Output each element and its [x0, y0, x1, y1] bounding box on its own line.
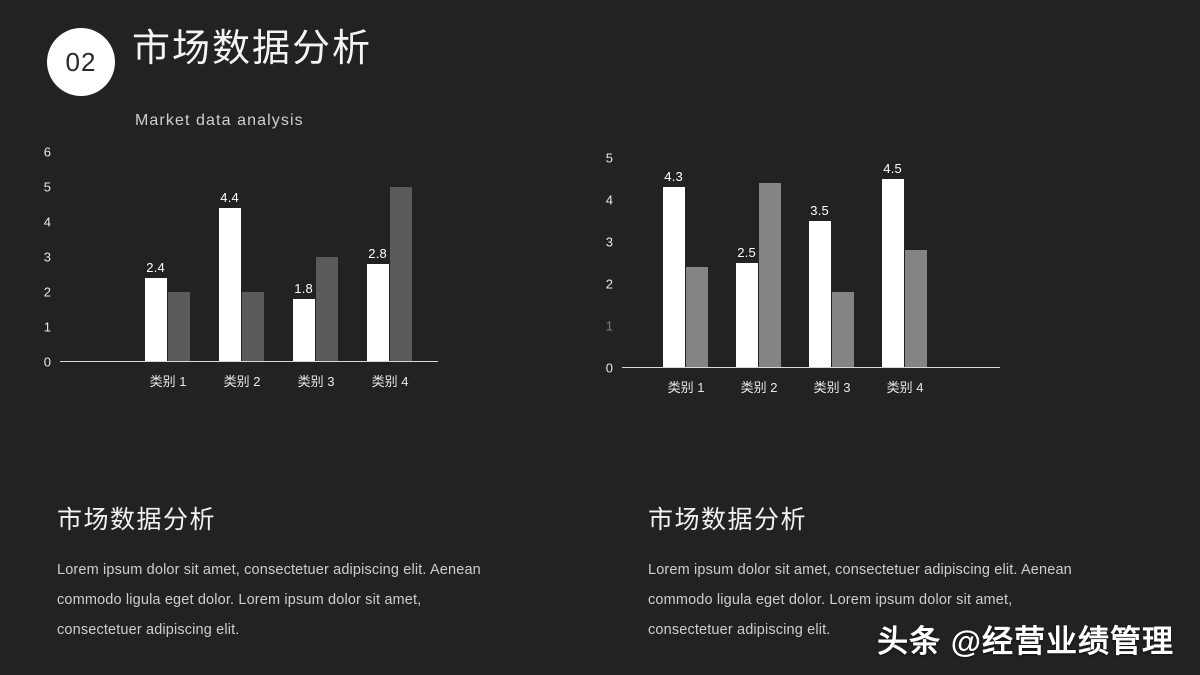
chart-left-bar-value-label: 2.8 [368, 246, 387, 261]
chart-right-ytick: 1 [606, 319, 622, 334]
chart-right-bar [832, 292, 854, 368]
chart-left-bar-group: 4.4类别 2 [219, 152, 265, 362]
watermark: 头条 @经营业绩管理 [877, 616, 1174, 661]
chart-right-plot: 4.3类别 12.5类别 23.5类别 34.5类别 4 012345 [622, 158, 982, 368]
chart-left-bar-group: 2.4类别 1 [145, 152, 191, 362]
text-block-left: 市场数据分析 Lorem ipsum dolor sit amet, conse… [57, 500, 517, 646]
chart-left-bar: 1.8 [293, 299, 315, 362]
chart-left-x-axis [60, 361, 438, 362]
chart-left-ytick: 5 [44, 180, 60, 195]
chart-left-ytick: 4 [44, 215, 60, 230]
chart-right-bar [905, 250, 927, 368]
text-block-right-title: 市场数据分析 [648, 500, 1108, 536]
chart-right-category-label: 类别 1 [668, 377, 705, 396]
chart-right-category-label: 类别 4 [887, 377, 924, 396]
chart-left-bar-value-label: 2.4 [146, 260, 165, 275]
chart-left-bar [316, 257, 338, 362]
page-subtitle: Market data analysis [135, 112, 304, 130]
text-block-left-body: Lorem ipsum dolor sit amet, consectetuer… [57, 556, 507, 646]
chart-right-bar-group: 4.5类别 4 [882, 158, 928, 368]
slide-header: 02 市场数据分析 Market data analysis [47, 28, 647, 114]
chart-right-ytick: 3 [606, 235, 622, 250]
section-number-badge: 02 [47, 28, 115, 96]
chart-left-bar [242, 292, 264, 362]
text-block-left-title: 市场数据分析 [57, 500, 517, 536]
chart-right-bar-group: 2.5类别 2 [736, 158, 782, 368]
chart-right-ytick: 5 [606, 151, 622, 166]
chart-left-category-label: 类别 2 [224, 371, 261, 390]
chart-right-bar: 4.3 [663, 187, 685, 368]
chart-right-plot-area: 4.3类别 12.5类别 23.5类别 34.5类别 4 [622, 158, 982, 368]
chart-right-ytick: 0 [606, 361, 622, 376]
page-title: 市场数据分析 [132, 26, 372, 74]
chart-left-ytick: 6 [44, 145, 60, 160]
chart-left-bar: 2.4 [145, 278, 167, 362]
chart-left-bar: 2.8 [367, 264, 389, 362]
chart-right-bar-value-label: 4.5 [883, 161, 902, 176]
chart-left-ytick: 3 [44, 250, 60, 265]
chart-left-bar [168, 292, 190, 362]
chart-right-bar [759, 183, 781, 368]
chart-right-bar-group: 3.5类别 3 [809, 158, 855, 368]
chart-right-bar [686, 267, 708, 368]
chart-left-bar [390, 187, 412, 362]
chart-right-ytick: 2 [606, 277, 622, 292]
chart-left-ytick: 0 [44, 355, 60, 370]
chart-right-category-label: 类别 3 [814, 377, 851, 396]
chart-left-ytick: 2 [44, 285, 60, 300]
chart-right-ytick: 4 [606, 193, 622, 208]
chart-left-plot: 2.4类别 14.4类别 21.8类别 32.8类别 4 0123456 [60, 152, 420, 362]
chart-right-bar-value-label: 3.5 [810, 203, 829, 218]
chart-left-bar-value-label: 1.8 [294, 281, 313, 296]
chart-right-bar-value-label: 2.5 [737, 245, 756, 260]
chart-right-bar: 2.5 [736, 263, 758, 368]
section-number-text: 02 [66, 47, 97, 78]
chart-left: 2.4类别 14.4类别 21.8类别 32.8类别 4 0123456 [60, 152, 420, 362]
chart-left-category-label: 类别 3 [298, 371, 335, 390]
chart-left-bar: 4.4 [219, 208, 241, 362]
chart-right-bar: 4.5 [882, 179, 904, 368]
chart-right: 4.3类别 12.5类别 23.5类别 34.5类别 4 012345 [622, 158, 982, 368]
chart-right-bar-group: 4.3类别 1 [663, 158, 709, 368]
chart-left-plot-area: 2.4类别 14.4类别 21.8类别 32.8类别 4 [60, 152, 420, 362]
chart-left-category-label: 类别 1 [150, 371, 187, 390]
chart-left-bar-group: 1.8类别 3 [293, 152, 339, 362]
chart-right-bar-value-label: 4.3 [664, 169, 683, 184]
chart-left-category-label: 类别 4 [372, 371, 409, 390]
chart-left-ytick: 1 [44, 320, 60, 335]
chart-right-x-axis [622, 367, 1000, 368]
chart-left-bar-group: 2.8类别 4 [367, 152, 413, 362]
chart-right-bar: 3.5 [809, 221, 831, 368]
chart-left-bar-value-label: 4.4 [220, 190, 239, 205]
chart-right-category-label: 类别 2 [741, 377, 778, 396]
slide-root: 02 市场数据分析 Market data analysis 2.4类别 14.… [0, 0, 1200, 675]
